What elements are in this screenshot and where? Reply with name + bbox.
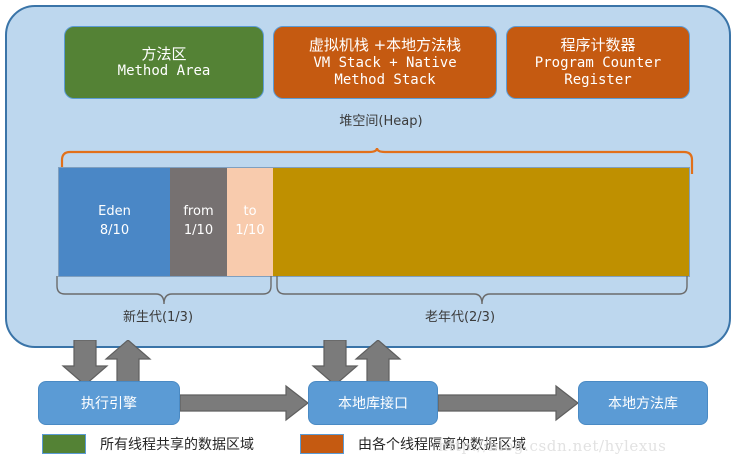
survivor-from-name: from [183,203,213,222]
survivor-to-ratio: 1/10 [235,222,264,241]
vm-stack-label-cn: 虚拟机栈 +本地方法栈 [309,36,461,54]
generation-label-young: 新生代(1/3) [78,306,238,325]
region-box-method-area[interactable]: 方法区 Method Area [64,26,264,99]
legend-text-shared: 所有线程共享的数据区域 [100,434,254,454]
box-native-interface[interactable]: 本地库接口 [308,381,438,425]
region-box-pc-register[interactable]: 程序计数器 Program Counter Register [506,26,690,99]
heap-segment-survivor-to[interactable]: to 1/10 [227,168,273,276]
vm-stack-label-en-line2: Method Stack [334,72,435,89]
heap-segment-old-generation[interactable] [273,168,689,276]
pc-register-label-en-line2: Register [564,72,631,89]
box-execution-engine[interactable]: 执行引擎 [38,381,180,425]
arrow-engine-to-interface [180,386,308,420]
arrow-interface-to-library [438,386,578,420]
watermark: http://blog.csdn.net/hylexus [438,437,666,455]
native-library-label: 本地方法库 [608,393,678,413]
method-area-label-cn: 方法区 [141,45,186,63]
heap-bar: Eden 8/10 from 1/10 to 1/10 [58,167,690,277]
survivor-from-ratio: 1/10 [184,222,213,241]
box-native-library[interactable]: 本地方法库 [578,381,708,425]
pc-register-label-cn: 程序计数器 [560,36,635,54]
native-interface-label: 本地库接口 [338,393,408,413]
legend-item-shared: 所有线程共享的数据区域 [42,434,254,454]
vm-stack-label-en-line1: VM Stack + Native [313,55,456,72]
legend-swatch-shared [42,434,86,454]
heap-segment-survivor-from[interactable]: from 1/10 [170,168,227,276]
method-area-label-en: Method Area [118,63,211,80]
survivor-to-name: to [243,203,256,222]
heap-segment-eden[interactable]: Eden 8/10 [59,168,170,276]
legend-swatch-private [300,434,344,454]
pc-register-label-en-line1: Program Counter [535,55,661,72]
eden-name: Eden [98,203,131,222]
region-box-vm-stack[interactable]: 虚拟机栈 +本地方法栈 VM Stack + Native Method Sta… [273,26,497,99]
generation-label-old: 老年代(2/3) [370,306,550,325]
heap-label: 堆空间(Heap) [296,110,466,129]
eden-ratio: 8/10 [100,222,129,241]
execution-engine-label: 执行引擎 [81,393,137,413]
diagram-canvas: 方法区 Method Area 虚拟机栈 +本地方法栈 VM Stack + N… [0,0,747,470]
